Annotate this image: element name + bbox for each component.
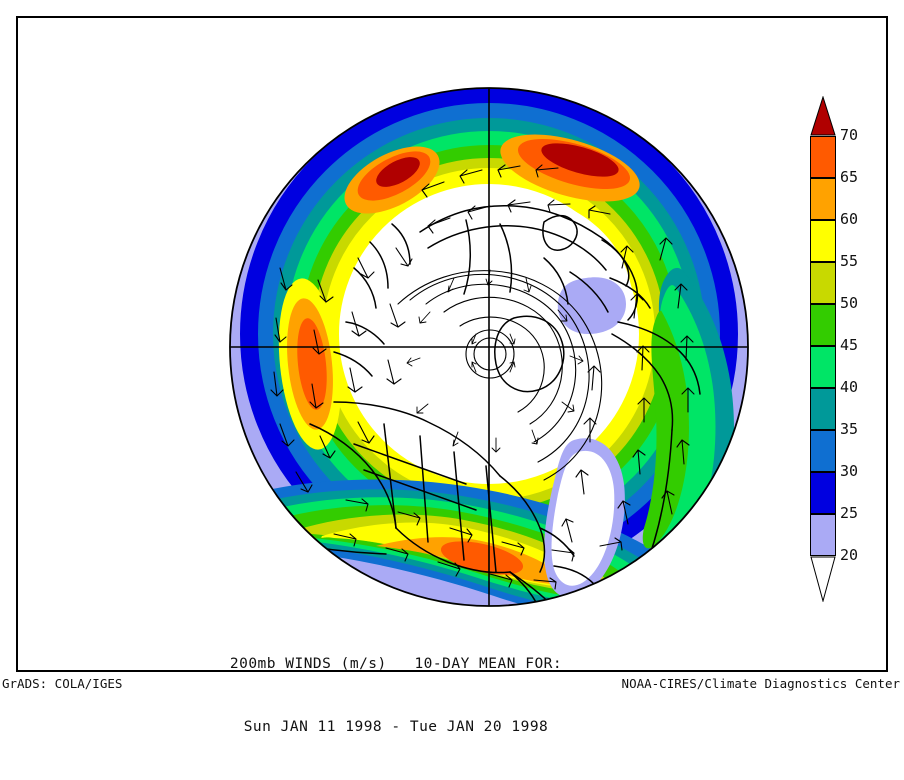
- polar-map-canvas: [214, 72, 764, 622]
- plot-title-line1: 200mb WINDS (m/s) 10-DAY MEAN FOR:: [16, 654, 776, 675]
- colorbar-extend-max: [810, 96, 836, 136]
- plot-title-line2: Sun JAN 11 1998 - Tue JAN 20 1998: [16, 717, 776, 738]
- colorbar-band-65-70[interactable]: [810, 136, 836, 178]
- colorbar-band-25-30[interactable]: [810, 472, 836, 514]
- colorbar-tick-50: 50: [840, 296, 858, 311]
- colorbar[interactable]: 70 65 60 55 50 45 40 35 30 25 20: [794, 96, 890, 606]
- colorbar-band-20-25[interactable]: [810, 514, 836, 556]
- plot-title: 200mb WINDS (m/s) 10-DAY MEAN FOR: Sun J…: [16, 612, 776, 780]
- colorbar-tick-65: 65: [840, 170, 858, 185]
- credit-noaa: NOAA-CIRES/Climate Diagnostics Center: [622, 676, 900, 691]
- colorbar-extend-min: [810, 556, 836, 602]
- colorbar-band-35-40[interactable]: [810, 388, 836, 430]
- colorbar-tick-55: 55: [840, 254, 858, 269]
- credit-grads: GrADS: COLA/IGES: [2, 676, 122, 691]
- colorbar-tick-25: 25: [840, 506, 858, 521]
- colorbar-tick-45: 45: [840, 338, 858, 353]
- figure-root: 70 65 60 55 50 45 40 35 30 25 20 200mb W…: [0, 0, 904, 699]
- colorbar-band-45-50[interactable]: [810, 304, 836, 346]
- colorbar-tick-40: 40: [840, 380, 858, 395]
- colorbar-tick-20: 20: [840, 548, 858, 563]
- colorbar-tick-30: 30: [840, 464, 858, 479]
- colorbar-band-40-45[interactable]: [810, 346, 836, 388]
- colorbar-tick-35: 35: [840, 422, 858, 437]
- polar-map: [214, 72, 764, 622]
- colorbar-band-55-60[interactable]: [810, 220, 836, 262]
- map-contours: [220, 88, 748, 622]
- colorbar-tick-60: 60: [840, 212, 858, 227]
- colorbar-band-30-35[interactable]: [810, 430, 836, 472]
- colorbar-band-60-65[interactable]: [810, 178, 836, 220]
- colorbar-tick-70: 70: [840, 128, 858, 143]
- colorbar-band-50-55[interactable]: [810, 262, 836, 304]
